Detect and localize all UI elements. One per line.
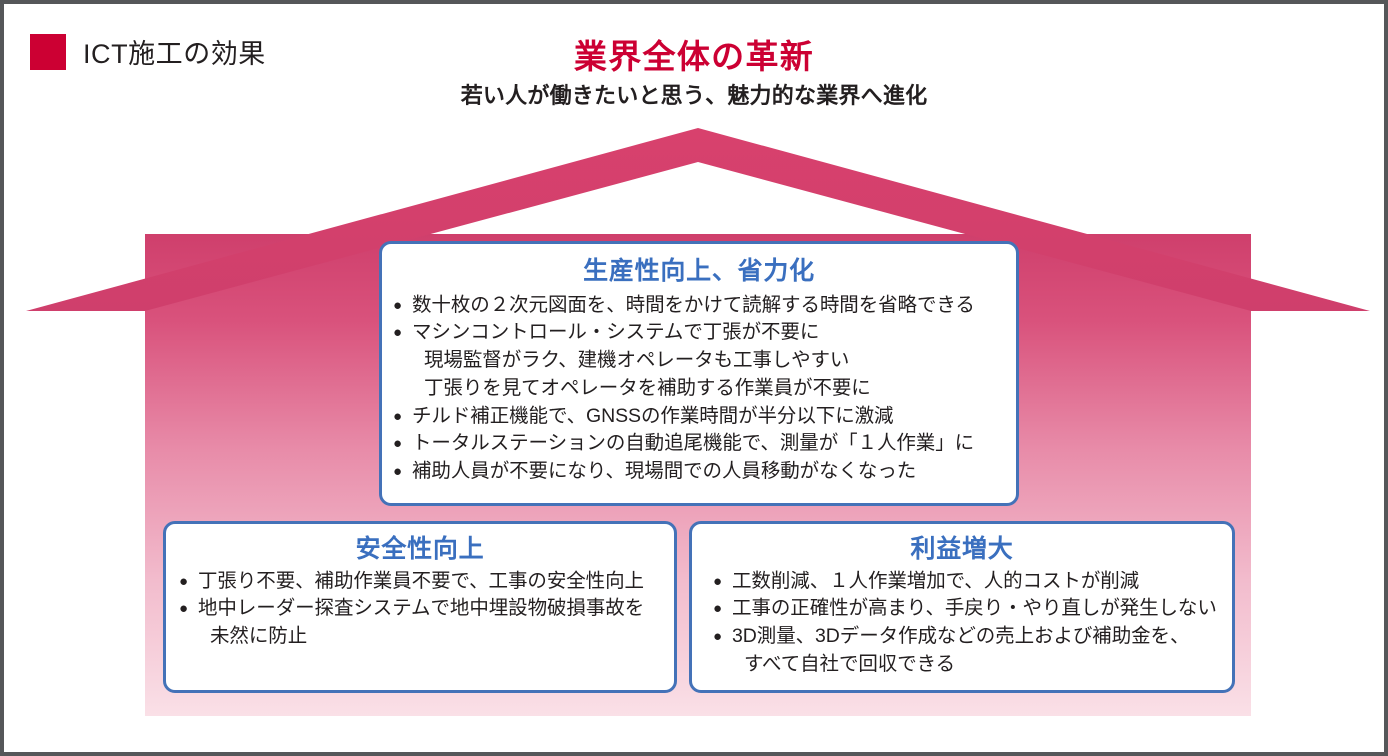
card-heading: 利益増大 bbox=[692, 535, 1232, 564]
list-item: トータルステーションの自動追尾機能で、測量が「１人作業」に bbox=[393, 430, 1002, 458]
list-item: 地中レーダー探査システムで地中埋設物破損事故を bbox=[179, 595, 660, 623]
infographic-page: ICT施工の効果 業界全体の革新 若い人が働きたいと思う、魅力的な業界へ進化 生… bbox=[0, 0, 1388, 756]
list-item: すべて自社で回収できる bbox=[713, 651, 1218, 679]
card-productivity: 生産性向上、省力化 数十枚の２次元図面を、時間をかけて読解する時間を省略できるマ… bbox=[379, 241, 1019, 506]
list-item: チルド補正機能で、GNSSの作業時間が半分以下に激減 bbox=[393, 403, 1002, 431]
list-item: 丁張り不要、補助作業員不要で、工事の安全性向上 bbox=[179, 568, 660, 596]
list-item: 未然に防止 bbox=[179, 623, 660, 651]
list-item: 丁張りを見てオペレータを補助する作業員が不要に bbox=[393, 375, 1002, 403]
card-safety: 安全性向上 丁張り不要、補助作業員不要で、工事の安全性向上地中レーダー探査システ… bbox=[163, 521, 677, 693]
list-item: 工事の正確性が高まり、手戻り・やり直しが発生しない bbox=[713, 595, 1218, 623]
card-heading: 生産性向上、省力化 bbox=[382, 257, 1016, 286]
card-heading: 安全性向上 bbox=[166, 535, 674, 564]
list-item: 3D測量、3Dデータ作成などの売上および補助金を、 bbox=[713, 623, 1218, 651]
card-list: 数十枚の２次元図面を、時間をかけて読解する時間を省略できるマシンコントロール・シ… bbox=[382, 292, 1016, 486]
list-item: 現場監督がラク、建機オペレータも工事しやすい bbox=[393, 347, 1002, 375]
list-item: 数十枚の２次元図面を、時間をかけて読解する時間を省略できる bbox=[393, 292, 1002, 320]
card-profit: 利益増大 工数削減、１人作業増加で、人的コストが削減工事の正確性が高まり、手戻り… bbox=[689, 521, 1235, 693]
card-list: 工数削減、１人作業増加で、人的コストが削減工事の正確性が高まり、手戻り・やり直し… bbox=[692, 568, 1232, 679]
list-item: 工数削減、１人作業増加で、人的コストが削減 bbox=[713, 568, 1218, 596]
hero-title-block: 業界全体の革新 若い人が働きたいと思う、魅力的な業界へ進化 bbox=[4, 37, 1384, 109]
page-subtitle: 若い人が働きたいと思う、魅力的な業界へ進化 bbox=[4, 83, 1384, 109]
card-list: 丁張り不要、補助作業員不要で、工事の安全性向上地中レーダー探査システムで地中埋設… bbox=[166, 568, 674, 651]
list-item: 補助人員が不要になり、現場間での人員移動がなくなった bbox=[393, 458, 1002, 486]
list-item: マシンコントロール・システムで丁張が不要に bbox=[393, 319, 1002, 347]
page-title: 業界全体の革新 bbox=[4, 37, 1384, 77]
